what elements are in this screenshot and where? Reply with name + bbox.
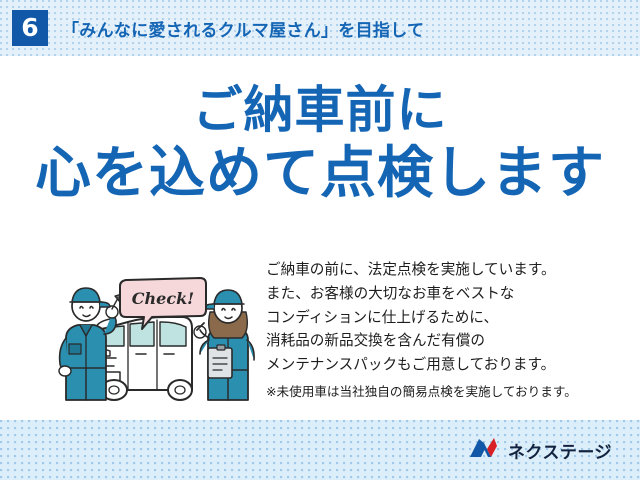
body-copy: ご納車の前に、法定点検を実施しています。 また、お客様の大切なお車をベストな コ… <box>266 258 626 402</box>
headline-line-1: ご納車前に <box>0 84 640 137</box>
nextage-logo-icon <box>468 437 500 464</box>
body-note: ※未使用車は当社独自の簡易点検を実施しております。 <box>266 382 626 403</box>
mechanics-illustration: Check! <box>56 272 266 404</box>
body-line-5: メンテナンスパックもご用意しております。 <box>266 353 626 377</box>
header-band: 6 「みんなに愛されるクルマ屋さん」を目指して <box>0 0 640 58</box>
banner-page: 6 「みんなに愛されるクルマ屋さん」を目指して ご納車前に 心を込めて点検します <box>0 0 640 480</box>
page-title: ご納車前に 心を込めて点検します <box>0 84 640 203</box>
body-line-3: コンディションに仕上げるために、 <box>266 306 626 330</box>
headline-line-2: 心を込めて点検します <box>0 145 640 204</box>
header-title: 「みんなに愛されるクルマ屋さん」を目指して <box>62 16 424 41</box>
brand-lockup: ネクステージ <box>468 437 612 464</box>
speech-bubble-text: Check! <box>132 289 194 308</box>
brand-name: ネクステージ <box>508 438 612 463</box>
body-line-4: 消耗品の新品交換を含んだ有償の <box>266 329 626 353</box>
body-line-1: ご納車の前に、法定点検を実施しています。 <box>266 258 626 282</box>
section-number-badge: 6 <box>12 10 48 46</box>
body-line-2: また、お客様の大切なお車をベストな <box>266 282 626 306</box>
footer-band: ネクステージ <box>0 418 640 480</box>
